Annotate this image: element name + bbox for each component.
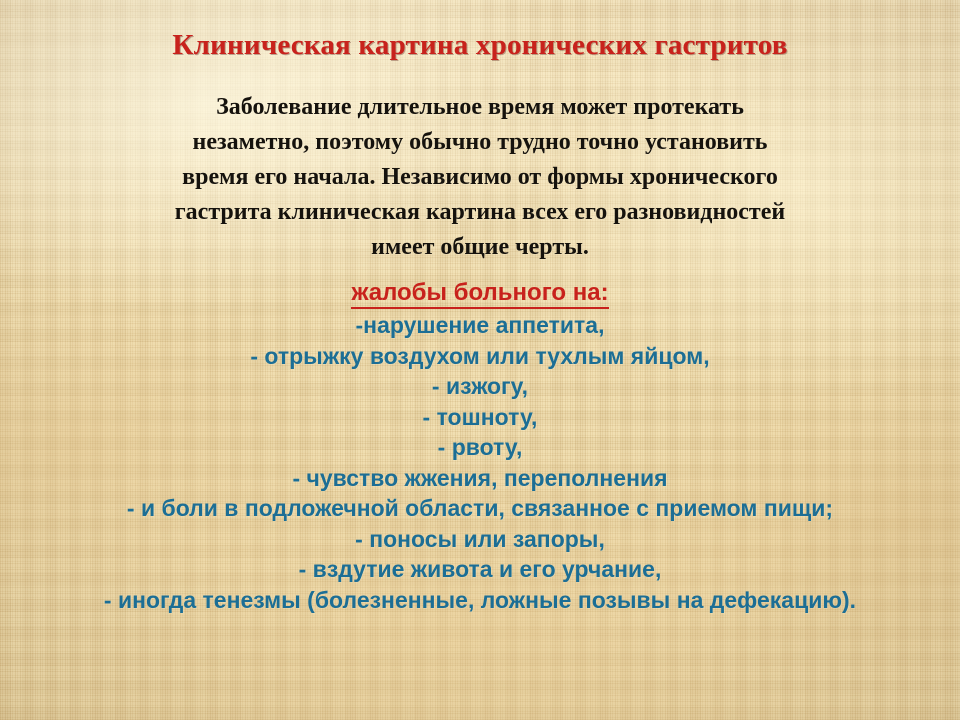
intro-line: незаметно, поэтому обычно трудно точно у… (0, 125, 960, 160)
intro-paragraph: Заболевание длительное время может проте… (0, 90, 960, 265)
list-item: - тошноту, (0, 402, 960, 433)
page-title: Клиническая картина хронических гастрито… (0, 28, 960, 62)
list-item: -нарушение аппетита, (0, 310, 960, 341)
list-item: - отрыжку воздухом или тухлым яйцом, (0, 341, 960, 372)
complaints-heading-label: жалобы больного на: (351, 279, 608, 309)
list-item: - иногда тенезмы (болезненные, ложные по… (0, 585, 960, 616)
intro-line: время его начала. Независимо от формы хр… (0, 160, 960, 195)
list-item: - рвоту, (0, 432, 960, 463)
list-item: - поносы или запоры, (0, 524, 960, 555)
intro-line: имеет общие черты. (0, 230, 960, 265)
complaints-heading: жалобы больного на: (0, 278, 960, 308)
list-item: - чувство жжения, переполнения (0, 463, 960, 494)
list-item: - изжогу, (0, 371, 960, 402)
slide-canvas: Клиническая картина хронических гастрито… (0, 0, 960, 720)
list-item: - вздутие живота и его урчание, (0, 554, 960, 585)
list-item: - и боли в подложечной области, связанно… (0, 493, 960, 524)
complaints-list: -нарушение аппетита, - отрыжку воздухом … (0, 310, 960, 615)
intro-line: Заболевание длительное время может проте… (0, 90, 960, 125)
intro-line: гастрита клиническая картина всех его ра… (0, 195, 960, 230)
slide-content: Клиническая картина хронических гастрито… (0, 0, 960, 720)
